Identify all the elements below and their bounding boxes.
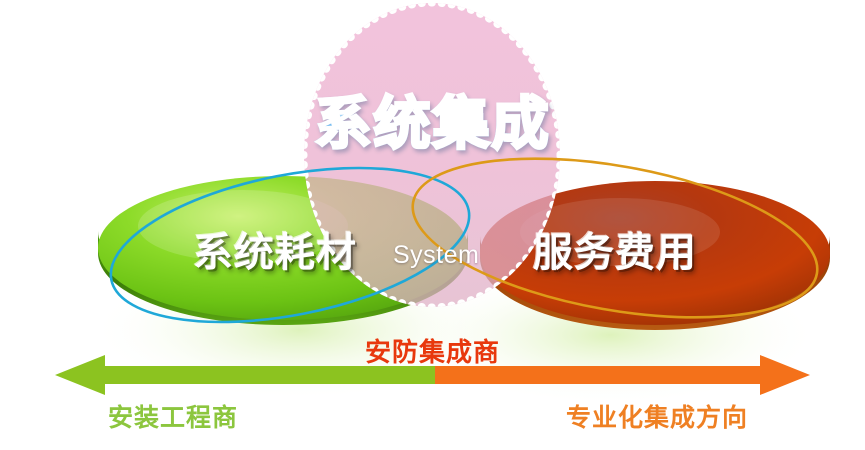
set-label-consumables: 系统耗材 bbox=[193, 233, 357, 273]
axis-right-endpoint-label: 专业化集成方向 bbox=[566, 405, 748, 430]
diagram-canvas: 系统集成 系统耗材 服务费用 System 安防集成商 安装工程商 专业化集成方… bbox=[0, 0, 865, 450]
axis-title-label: 安防集成商 bbox=[0, 340, 865, 366]
axis-left-endpoint-label: 安装工程商 bbox=[108, 405, 238, 430]
venn-diagram-graphic bbox=[0, 0, 865, 450]
venn-center-label: System bbox=[393, 243, 479, 268]
set-label-service-cost: 服务费用 bbox=[533, 233, 697, 273]
diagram-title: 系统集成 bbox=[0, 96, 865, 153]
